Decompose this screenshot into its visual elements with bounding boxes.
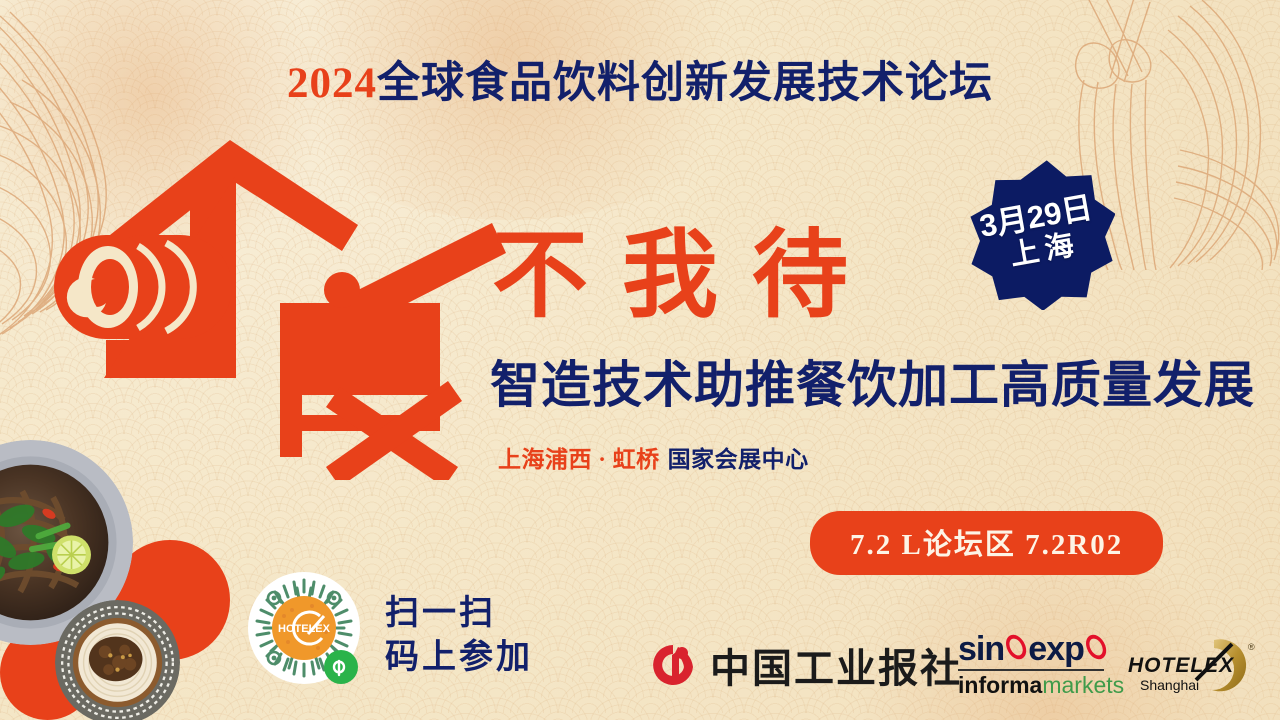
venue-line: 上海浦西 · 虹桥国家会展中心 xyxy=(498,440,809,474)
venue-hall: 国家会展中心 xyxy=(668,447,809,472)
sinoexpo-sin: sin xyxy=(958,632,1004,666)
hotelex-name-label: HOTELEX xyxy=(1128,654,1235,677)
title-year: 2024 xyxy=(287,60,377,107)
qr-caption-line2: 码上参加 xyxy=(385,636,533,680)
title-text: 全球食品饮料创新发展技术论坛 xyxy=(377,60,993,107)
venue-city: 上海浦西 · 虹桥 xyxy=(498,447,660,472)
sponsor-hotelex-shanghai: HOTELEX Shanghai ® xyxy=(1124,636,1264,698)
qr-caption: 扫一扫 码上参加 xyxy=(385,592,533,679)
subtitle-text: 智造技术助推餐饮加工高质量发展 xyxy=(490,358,1255,413)
wechat-miniprogram-icon xyxy=(324,650,358,684)
informa-markets-wordmark: informamarkets xyxy=(958,674,1108,697)
qr-caption-line1: 扫一扫 xyxy=(385,592,533,636)
hall-location-badge: 7.2 L论坛区 7.2R02 xyxy=(810,511,1163,575)
sponsor-sinoexpo-informa-markets: sin exp informamarkets xyxy=(958,632,1108,697)
hotelex-city-label: Shanghai xyxy=(1140,677,1199,693)
sponsor-china-industry-news: 中国工业报社 xyxy=(648,636,962,694)
event-poster: 2024全球食品饮料创新发展技术论坛 xyxy=(0,0,1280,720)
hotelex-trademark-label: ® xyxy=(1248,642,1255,652)
sinoexpo-divider xyxy=(958,669,1104,671)
rice-noodle-bowl-photo xyxy=(55,600,180,720)
sinoexpo-o-icon xyxy=(1002,632,1030,663)
sinoexpo-o-icon xyxy=(1082,632,1110,663)
china-industry-news-mark-icon xyxy=(648,641,698,689)
qr-brand-label: HOTELEX xyxy=(278,623,331,635)
poster-title: 2024全球食品饮料创新发展技术论坛 xyxy=(0,48,1280,110)
date-city-badge: 3月29日 上海 xyxy=(963,158,1115,310)
qr-code[interactable]: HOTELEX xyxy=(248,572,360,684)
sinoexpo-exp: exp xyxy=(1028,632,1084,666)
markets-label: markets xyxy=(1042,672,1124,698)
informa-label: informa xyxy=(958,672,1042,698)
sinoexpo-wordmark: sin exp xyxy=(958,632,1108,666)
headline-text: 不我待 xyxy=(492,228,882,324)
sponsor-name-label: 中国工业报社 xyxy=(710,636,962,694)
shi-character-logo xyxy=(40,135,510,480)
